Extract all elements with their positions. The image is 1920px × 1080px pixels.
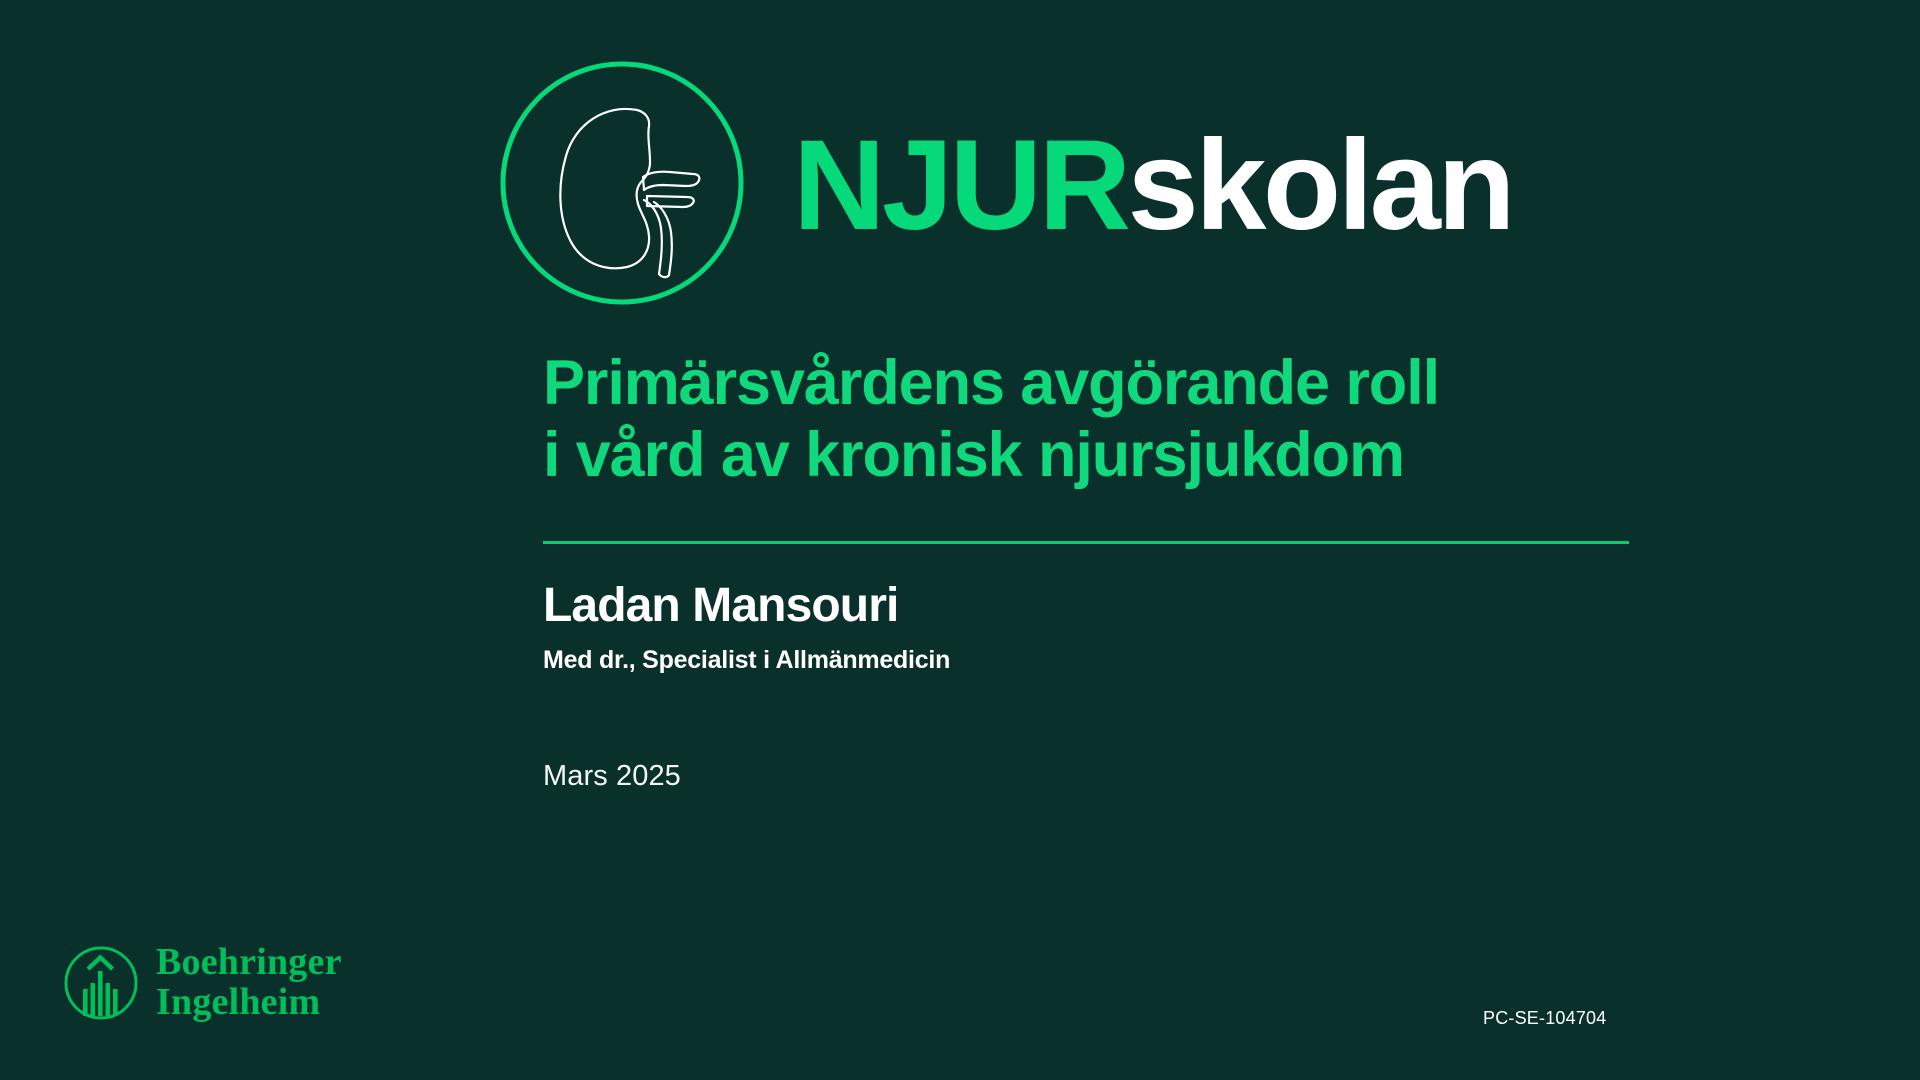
- reference-code: PC-SE-104704: [1483, 1008, 1606, 1029]
- kidney-in-circle-icon: [487, 48, 757, 318]
- wordmark-primary: NJUR: [793, 114, 1128, 257]
- title-divider: [543, 541, 1629, 544]
- title-block: Primärsvårdens avgörande roll i vård av …: [543, 348, 1663, 491]
- presenter-role: Med dr., Specialist i Allmänmedicin: [543, 645, 1543, 675]
- brand-lockup: NJURskolan: [487, 48, 1512, 318]
- title-slide: NJURskolan Primärsvårdens avgörande roll…: [0, 0, 1920, 1080]
- boehringer-ingelheim-logo: Boehringer Ingelheim: [62, 943, 342, 1022]
- njurskolan-wordmark: NJURskolan: [793, 122, 1512, 250]
- wordmark-secondary: skolan: [1128, 114, 1513, 257]
- boehringer-ingelheim-wordmark: Boehringer Ingelheim: [156, 943, 342, 1022]
- boehringer-ingelheim-emblem-icon: [62, 944, 140, 1022]
- presenter-block: Ladan Mansouri Med dr., Specialist i All…: [543, 580, 1543, 675]
- presenter-name: Ladan Mansouri: [543, 580, 1543, 633]
- page-title: Primärsvårdens avgörande roll i vård av …: [543, 348, 1663, 491]
- presentation-date: Mars 2025: [543, 760, 681, 793]
